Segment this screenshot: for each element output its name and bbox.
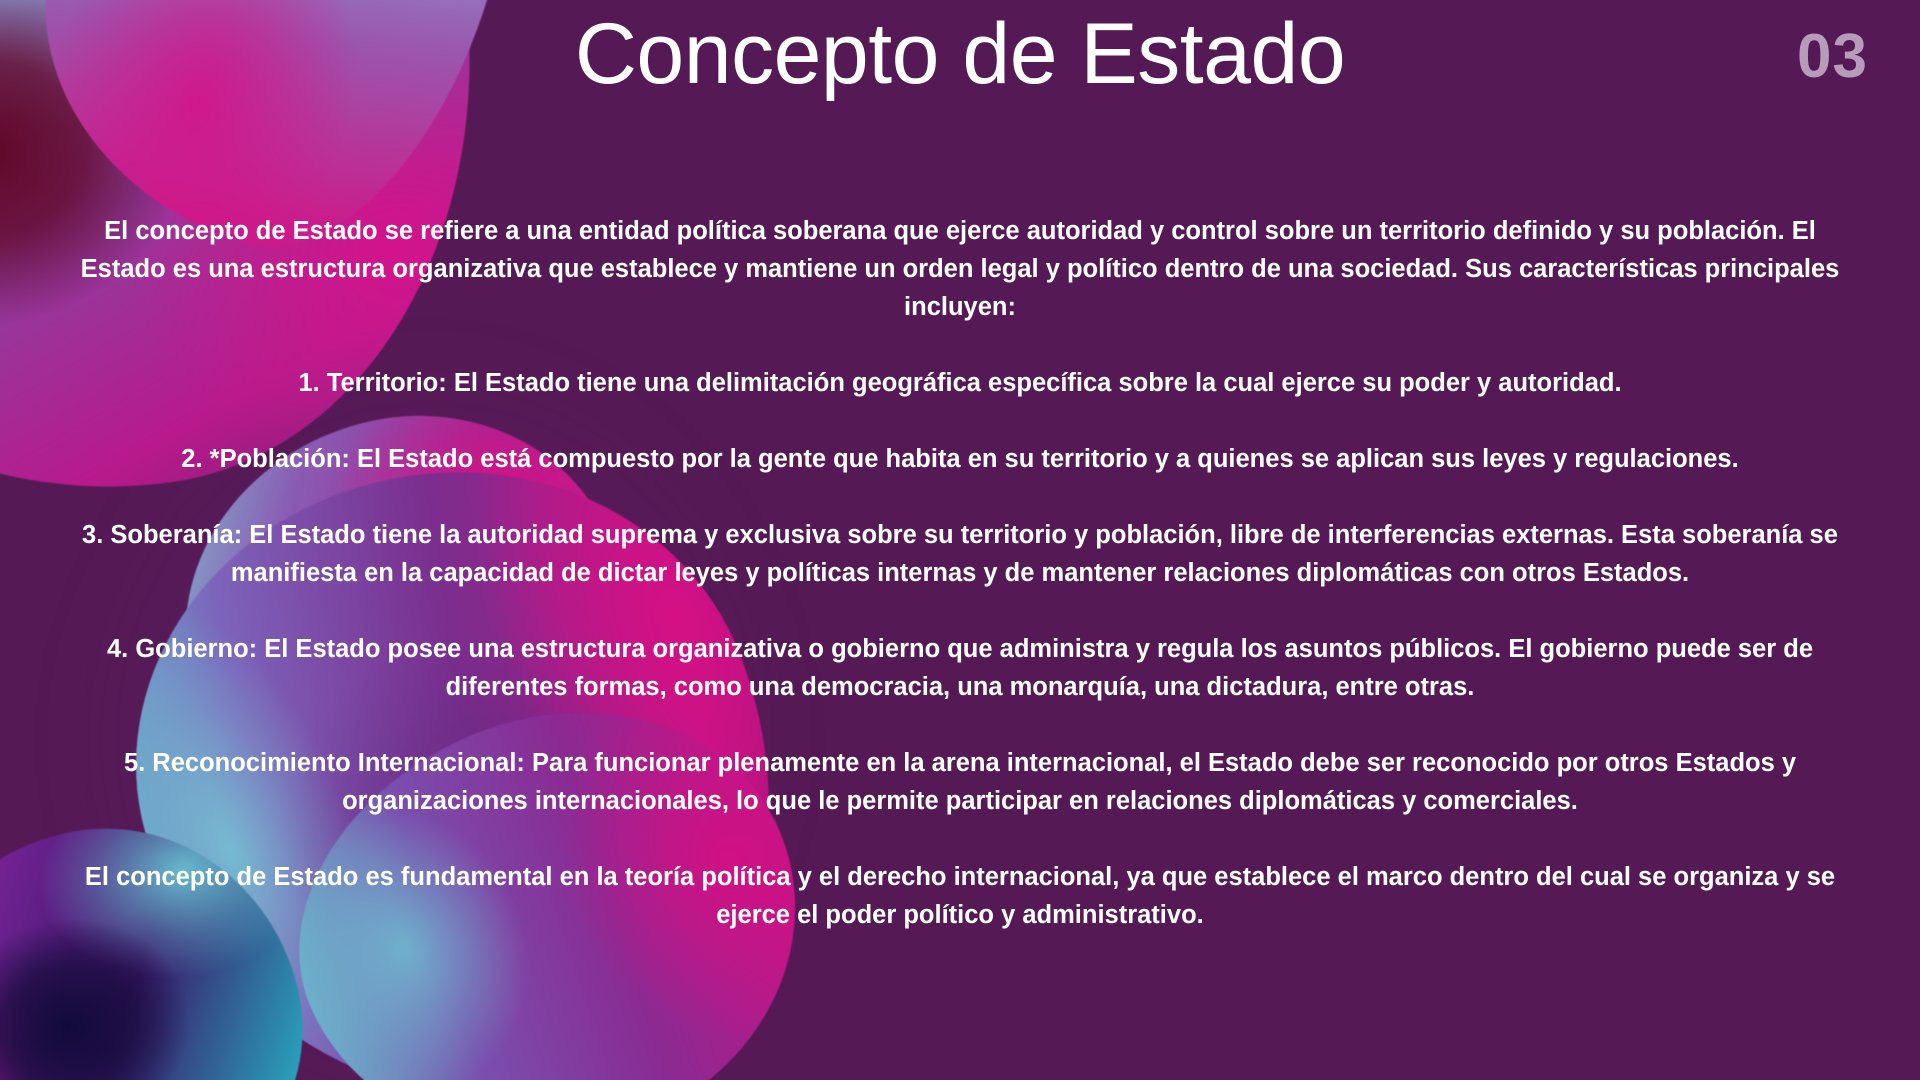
spacer bbox=[65, 478, 1855, 516]
spacer bbox=[65, 820, 1855, 858]
slide-number: 03 bbox=[1797, 26, 1868, 88]
list-item-3: 3. Soberanía: El Estado tiene la autorid… bbox=[65, 516, 1855, 592]
list-item-2: 2. *Población: El Estado está compuesto … bbox=[65, 440, 1855, 478]
slide-header: Concepto de Estado 03 bbox=[0, 0, 1920, 140]
presentation-slide: Concepto de Estado 03 El concepto de Est… bbox=[0, 0, 1920, 1080]
intro-paragraph: El concepto de Estado se refiere a una e… bbox=[65, 212, 1855, 326]
list-item-4: 4. Gobierno: El Estado posee una estruct… bbox=[65, 630, 1855, 706]
spacer bbox=[65, 326, 1855, 364]
spacer bbox=[65, 592, 1855, 630]
list-item-5: 5. Reconocimiento Internacional: Para fu… bbox=[65, 744, 1855, 820]
slide-body: El concepto de Estado se refiere a una e… bbox=[65, 212, 1855, 934]
slide-title: Concepto de Estado bbox=[0, 6, 1920, 102]
list-item-1: 1. Territorio: El Estado tiene una delim… bbox=[65, 364, 1855, 402]
conclusion-paragraph: El concepto de Estado es fundamental en … bbox=[65, 858, 1855, 934]
spacer bbox=[65, 402, 1855, 440]
spacer bbox=[65, 706, 1855, 744]
